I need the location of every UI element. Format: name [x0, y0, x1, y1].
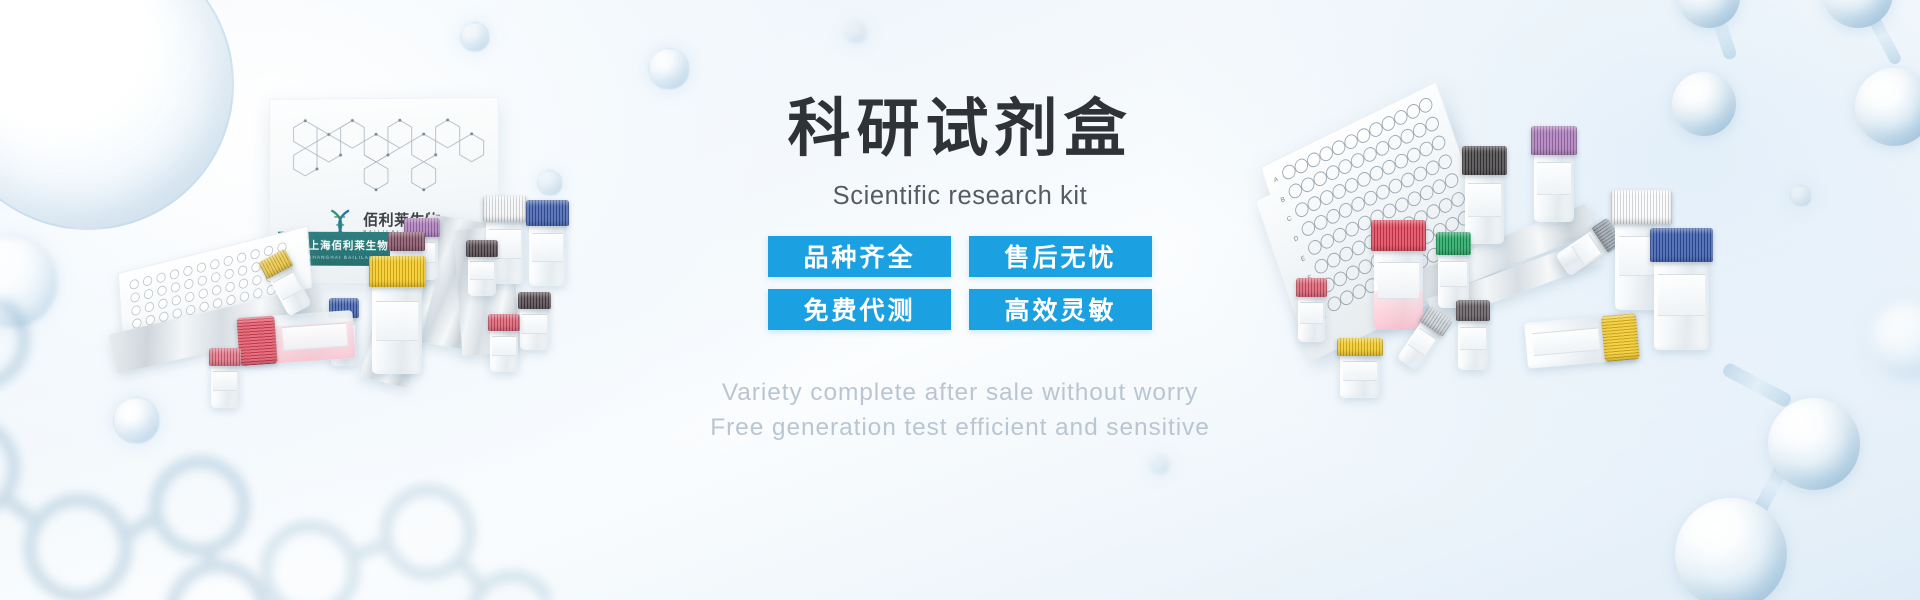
- water-droplet: [113, 397, 160, 444]
- molecule-bond: [1863, 6, 1903, 66]
- molecule-sphere: [1823, 0, 1893, 28]
- page-subtitle: Scientific research kit: [640, 182, 1280, 211]
- badge-high-sensitivity[interactable]: 高效灵敏: [969, 289, 1152, 330]
- feature-badges: 品种齐全 售后无忧 免费代测 高效灵敏: [768, 236, 1152, 330]
- water-droplet: [648, 48, 690, 90]
- water-droplet: [460, 22, 490, 52]
- vial-rose-cap-right: [490, 314, 518, 372]
- badge-free-testing[interactable]: 免费代测: [768, 289, 951, 330]
- vial-blue-cap: [529, 200, 566, 286]
- vial-rose-cap-small: [1298, 278, 1325, 342]
- molecule-chain-blurred: [250, 420, 550, 600]
- vial-green-cap: [1438, 232, 1469, 308]
- product-photo-left: 佰利莱生物 BAILILAI BIOLOGY 上海佰利莱生物科技有限公司 SHA…: [118, 96, 638, 396]
- water-droplet: [845, 22, 867, 44]
- water-droplet: [1150, 455, 1170, 475]
- tagline-block: Variety complete after sale without worr…: [640, 376, 1280, 446]
- bottle-yellow-cap: [372, 256, 422, 374]
- badge-after-sale[interactable]: 售后无忧: [969, 236, 1152, 277]
- vial-dark-cap: [468, 240, 496, 296]
- bottle-yellow-cap-small: [1340, 338, 1380, 398]
- water-bubble: [1870, 300, 1920, 380]
- page-title: 科研试剂盒: [640, 96, 1280, 163]
- vial-purple-cap: [1534, 126, 1574, 222]
- molecule-sphere: [1675, 498, 1787, 600]
- molecule-sphere: [1855, 68, 1920, 146]
- badge-variety-complete[interactable]: 品种齐全: [768, 236, 951, 277]
- water-bubble: [0, 236, 58, 328]
- vial-pink-cap: [211, 348, 239, 408]
- banner-copy: 科研试剂盒 Scientific research kit 品种齐全 售后无忧 …: [640, 96, 1280, 445]
- product-photo-right: A B C D E F G H: [1258, 110, 1818, 420]
- molecule-bond: [1752, 454, 1793, 515]
- hexagon-pattern-icon: [270, 104, 498, 209]
- bottle-red-cap: [1374, 220, 1423, 330]
- vial-slate-cap: [1458, 300, 1488, 370]
- vial-charcoal-cap: [1465, 146, 1504, 244]
- tagline-line-2: Free generation test efficient and sensi…: [640, 411, 1280, 446]
- molecule-sphere: [1678, 0, 1740, 28]
- banner-root: 佰利莱生物 BAILILAI BIOLOGY 上海佰利莱生物科技有限公司 SHA…: [0, 0, 1920, 600]
- molecule-bond: [1704, 0, 1737, 61]
- vial-dark-cap-right: [520, 292, 549, 350]
- tagline-line-1: Variety complete after sale without worr…: [640, 376, 1280, 411]
- bottle-red-cap-tilted: [238, 310, 355, 366]
- bottle-yellow-cap-tilted: [1524, 313, 1638, 368]
- bottle-blue-cap: [1654, 228, 1709, 350]
